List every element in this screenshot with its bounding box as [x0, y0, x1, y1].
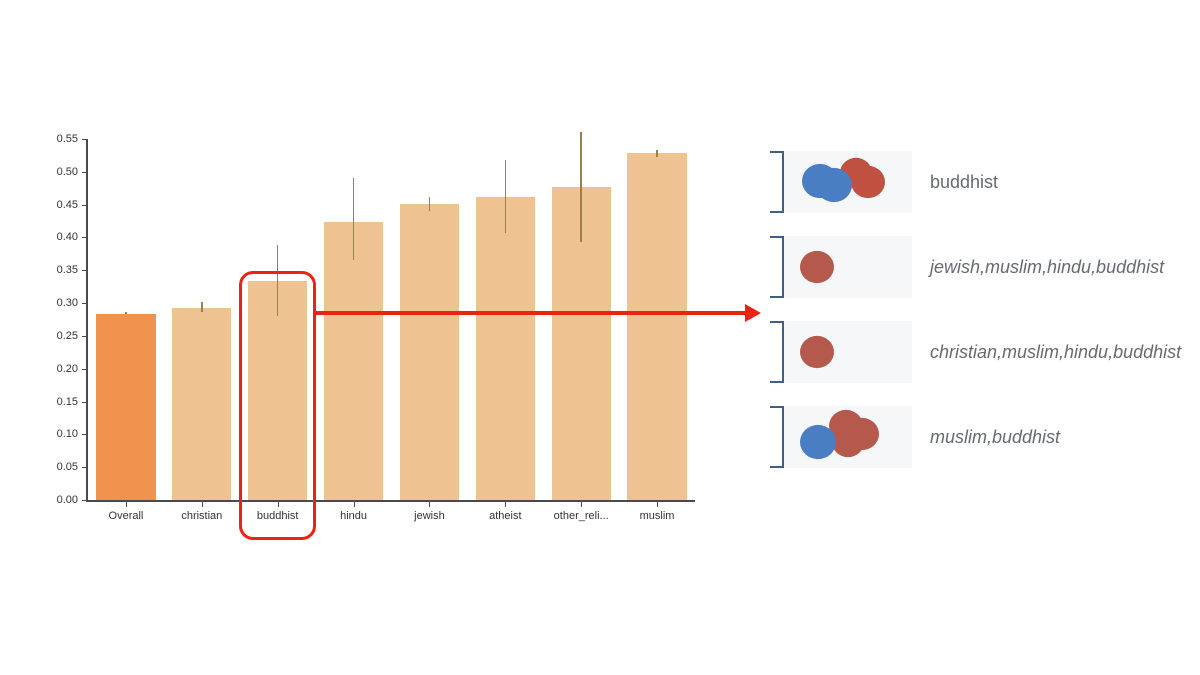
example-label: christian,muslim,hindu,buddhist [930, 342, 1181, 363]
bar-muslim [627, 153, 686, 500]
x-tick-mark [581, 502, 582, 507]
y-tick-label: 0.15 [28, 396, 78, 408]
annotation-arrow-head [745, 304, 761, 322]
y-tick-mark [82, 172, 87, 173]
x-tick-label: atheist [489, 510, 521, 522]
blobs-red-cluster-blue-icon [784, 406, 912, 468]
y-tick-label: 0.20 [28, 363, 78, 375]
x-tick-mark [429, 502, 430, 507]
x-tick-label: other_reli... [554, 510, 609, 522]
bracket-icon [770, 406, 784, 468]
example-row[interactable]: buddhist [770, 148, 1200, 216]
error-bar [505, 160, 506, 233]
error-bar [125, 312, 126, 313]
highlight-rectangle-buddhist [239, 271, 316, 540]
x-tick-mark [126, 502, 127, 507]
y-tick-mark [82, 270, 87, 271]
example-label: muslim,buddhist [930, 427, 1060, 448]
error-bar [656, 150, 657, 158]
example-row[interactable]: christian,muslim,hindu,buddhist [770, 318, 1200, 386]
bracket-icon [770, 151, 784, 213]
x-tick-label: hindu [340, 510, 367, 522]
y-tick-mark [82, 336, 87, 337]
x-tick-label: christian [181, 510, 222, 522]
x-tick-label: jewish [414, 510, 445, 522]
blob-red-single-icon [784, 236, 912, 298]
bar-chart: 0.000.050.100.150.200.250.300.350.400.45… [0, 0, 760, 675]
y-tick-mark [82, 237, 87, 238]
x-tick-mark [657, 502, 658, 507]
bar-overall [96, 314, 155, 500]
bar-christian [172, 308, 231, 500]
y-tick-label: 0.35 [28, 264, 78, 276]
annotation-arrow-line [316, 311, 745, 315]
figure-root: 0.000.050.100.150.200.250.300.350.400.45… [0, 0, 1200, 675]
error-bar [429, 197, 430, 211]
x-axis-spine [86, 500, 695, 502]
error-bar [201, 302, 202, 312]
example-label: jewish,muslim,hindu,buddhist [930, 257, 1164, 278]
blobs-blue-red-pair-icon [784, 151, 912, 213]
bar-atheist [476, 197, 535, 500]
error-bar [580, 132, 581, 242]
y-tick-mark [82, 139, 87, 140]
y-tick-label: 0.10 [28, 428, 78, 440]
example-row[interactable]: jewish,muslim,hindu,buddhist [770, 233, 1200, 301]
x-tick-label: muslim [640, 510, 675, 522]
bar-hindu [324, 222, 383, 500]
x-tick-label: Overall [109, 510, 144, 522]
y-tick-label: 0.45 [28, 199, 78, 211]
y-tick-mark [82, 369, 87, 370]
y-tick-label: 0.25 [28, 330, 78, 342]
y-tick-label: 0.50 [28, 166, 78, 178]
x-tick-mark [202, 502, 203, 507]
blob-red-single-icon [784, 321, 912, 383]
bar-jewish [400, 204, 459, 500]
x-tick-mark [354, 502, 355, 507]
y-tick-mark [82, 500, 87, 501]
example-label: buddhist [930, 172, 998, 193]
error-bar [353, 178, 354, 259]
y-tick-mark [82, 402, 87, 403]
y-tick-mark [82, 303, 87, 304]
y-tick-label: 0.05 [28, 461, 78, 473]
example-list: buddhistjewish,muslim,hindu,buddhistchri… [770, 148, 1200, 508]
y-axis-spine [86, 139, 88, 502]
y-tick-mark [82, 205, 87, 206]
y-tick-mark [82, 434, 87, 435]
y-tick-label: 0.40 [28, 231, 78, 243]
bracket-icon [770, 236, 784, 298]
y-tick-label: 0.30 [28, 297, 78, 309]
x-tick-mark [505, 502, 506, 507]
y-tick-label: 0.00 [28, 494, 78, 506]
bracket-icon [770, 321, 784, 383]
example-row[interactable]: muslim,buddhist [770, 403, 1200, 471]
y-tick-label: 0.55 [28, 133, 78, 145]
y-tick-mark [82, 467, 87, 468]
